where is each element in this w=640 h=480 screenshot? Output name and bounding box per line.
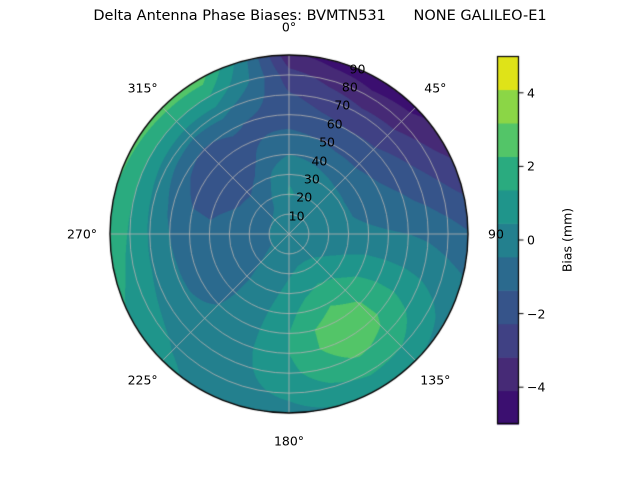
azimuth-tick-45: 45° [424,80,446,95]
page-title: Delta Antenna Phase Biases: BVMTN531 NON… [0,8,640,24]
colorbar-tick-3: 2 [527,159,535,174]
colorbar-tick-1: −2 [527,306,545,321]
azimuth-tick-225: 225° [128,373,158,388]
zenith-tick-10: 10 [289,208,305,223]
azimuth-tick-270: 270° [67,227,97,242]
azimuth-tick-90: 90 [488,227,504,242]
figure-canvas-area: Delta Antenna Phase Biases: BVMTN531 NON… [0,0,640,480]
colorbar-tick-0: −4 [527,380,545,395]
azimuth-tick-180: 180° [274,434,304,449]
azimuth-tick-0: 0° [282,20,296,35]
azimuth-tick-315: 315° [128,80,158,95]
zenith-tick-60: 60 [327,116,343,131]
zenith-tick-70: 70 [334,98,350,113]
colorbar-tick-2: 0 [527,233,535,248]
colorbar-axis-label: Bias (mm) [560,208,575,272]
zenith-tick-50: 50 [319,135,335,150]
zenith-tick-40: 40 [311,153,327,168]
zenith-tick-80: 80 [342,80,358,95]
azimuth-tick-135: 135° [420,373,450,388]
zenith-tick-30: 30 [304,171,320,186]
zenith-tick-20: 20 [296,190,312,205]
zenith-tick-90: 90 [350,61,366,76]
colorbar-tick-4: 4 [527,85,535,100]
